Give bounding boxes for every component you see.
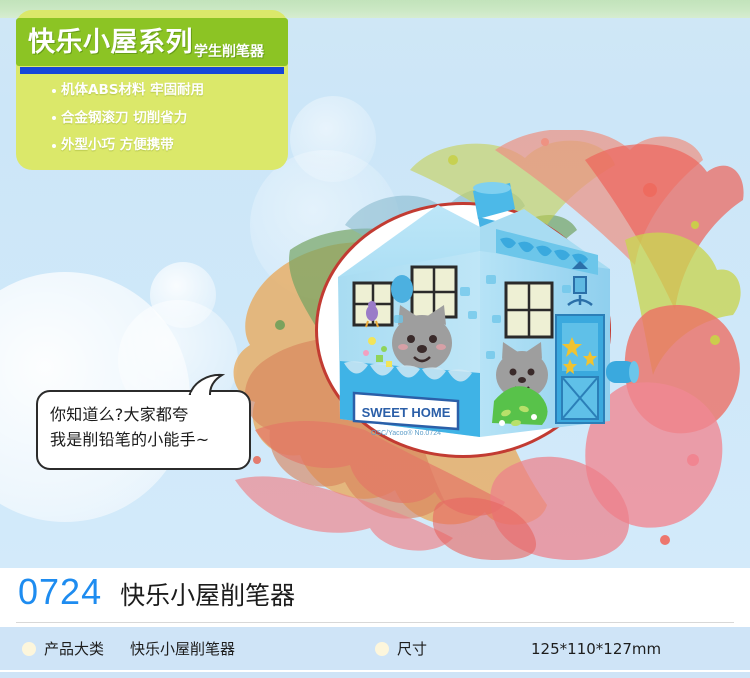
banner-subtext: OSC/Yacoo® No.0724 — [371, 429, 441, 437]
bullet-icon — [375, 642, 389, 656]
window-left — [354, 283, 392, 327]
bullet-icon — [22, 642, 36, 656]
speech-bubble: 你知道么?大家都夸 我是削铅笔的小能手~ — [36, 390, 251, 470]
feature-panel: 快乐小屋系列 学生削笔器 机体ABS材料 牢固耐用 合金钢滚刀 切削省力 外型小… — [16, 10, 288, 170]
bubble-line-1: 你知道么?大家都夸 — [50, 402, 237, 427]
crank-handle — [606, 361, 639, 383]
spec-label: 产品大类 — [44, 638, 130, 659]
bubble-line-2: 我是削铅笔的小能手~ — [50, 427, 237, 452]
bullet-icon — [52, 89, 56, 93]
bullet-icon — [52, 144, 56, 148]
divider — [16, 622, 734, 623]
speech-bubble-tail — [188, 372, 230, 396]
page-subtitle: 学生削笔器 — [194, 45, 264, 59]
spec-cell-size: 尺寸 125*110*127mm — [375, 638, 661, 659]
product-code: 0724 — [18, 574, 102, 610]
list-item: 合金钢滚刀 切削省力 — [52, 112, 272, 126]
banner-text: SWEET HOME — [362, 405, 451, 420]
list-item: 机体ABS材料 牢固耐用 — [52, 84, 272, 98]
panel-title-bar: 快乐小屋系列 学生削笔器 — [16, 18, 288, 66]
feature-text: 机体ABS材料 牢固耐用 — [61, 84, 204, 98]
spec-table-row-next — [0, 672, 750, 678]
spec-label: 尺寸 — [397, 638, 483, 659]
window-middle — [412, 267, 456, 317]
window-right — [506, 283, 552, 337]
bullet-icon — [52, 116, 56, 120]
product-image-sharpener: SWEET HOME OSC/Yacoo® No.0724 — [310, 165, 640, 465]
feature-text: 合金钢滚刀 切削省力 — [61, 112, 187, 126]
spec-cell-category: 产品大类 快乐小屋削笔器 — [22, 638, 235, 659]
spec-table-row: 产品大类 快乐小屋削笔器 尺寸 125*110*127mm — [0, 627, 750, 670]
feature-text: 外型小巧 方便携带 — [61, 139, 174, 153]
hero-banner: SWEET HOME OSC/Yacoo® No.0724 — [0, 0, 750, 568]
door — [556, 315, 604, 423]
spec-value: 快乐小屋削笔器 — [130, 638, 235, 659]
product-title-row: 0724 快乐小屋削笔器 — [0, 568, 750, 616]
product-name: 快乐小屋削笔器 — [120, 583, 295, 608]
list-item: 外型小巧 方便携带 — [52, 139, 272, 153]
spec-value: 125*110*127mm — [531, 640, 661, 658]
porthole — [391, 275, 413, 303]
accent-divider — [20, 67, 284, 74]
feature-list: 机体ABS材料 牢固耐用 合金钢滚刀 切削省力 外型小巧 方便携带 — [16, 84, 288, 167]
page-title: 快乐小屋系列 — [28, 29, 193, 56]
speech-bubble-text: 你知道么?大家都夸 我是削铅笔的小能手~ — [38, 392, 249, 452]
